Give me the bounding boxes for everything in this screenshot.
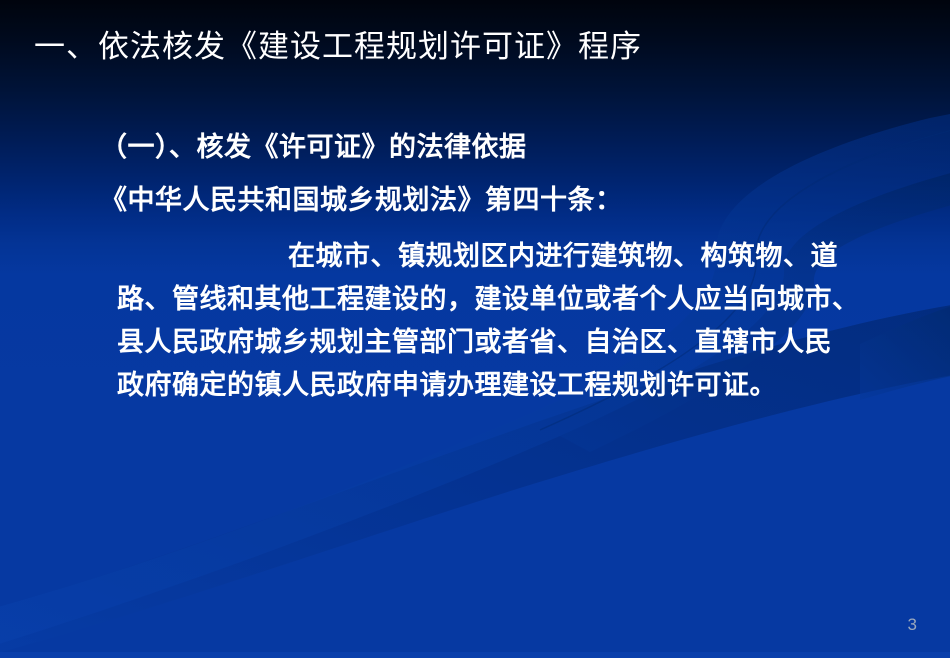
body-line-3: 县人民政府城乡规划主管部门或者省、自治区、直辖市人民 xyxy=(117,326,832,360)
slide-canvas: 一、依法核发《建设工程规划许可证》程序 （一）、核发《许可证》的法律依据 《中华… xyxy=(0,0,950,658)
section-heading: （一）、核发《许可证》的法律依据 xyxy=(100,131,527,165)
body-line-2: 路、管线和其他工程建设的，建设单位或者个人应当向城市、 xyxy=(117,283,860,317)
law-citation: 《中华人民共和国城乡规划法》第四十条： xyxy=(100,184,623,218)
body-line-1: 在城市、镇规划区内进行建筑物、构筑物、道 xyxy=(288,240,838,274)
body-line-4: 政府确定的镇人民政府申请办理建设工程规划许可证。 xyxy=(117,369,777,403)
slide-body: （一）、核发《许可证》的法律依据 《中华人民共和国城乡规划法》第四十条： 在城市… xyxy=(0,0,950,658)
page-number: 3 xyxy=(908,615,917,635)
